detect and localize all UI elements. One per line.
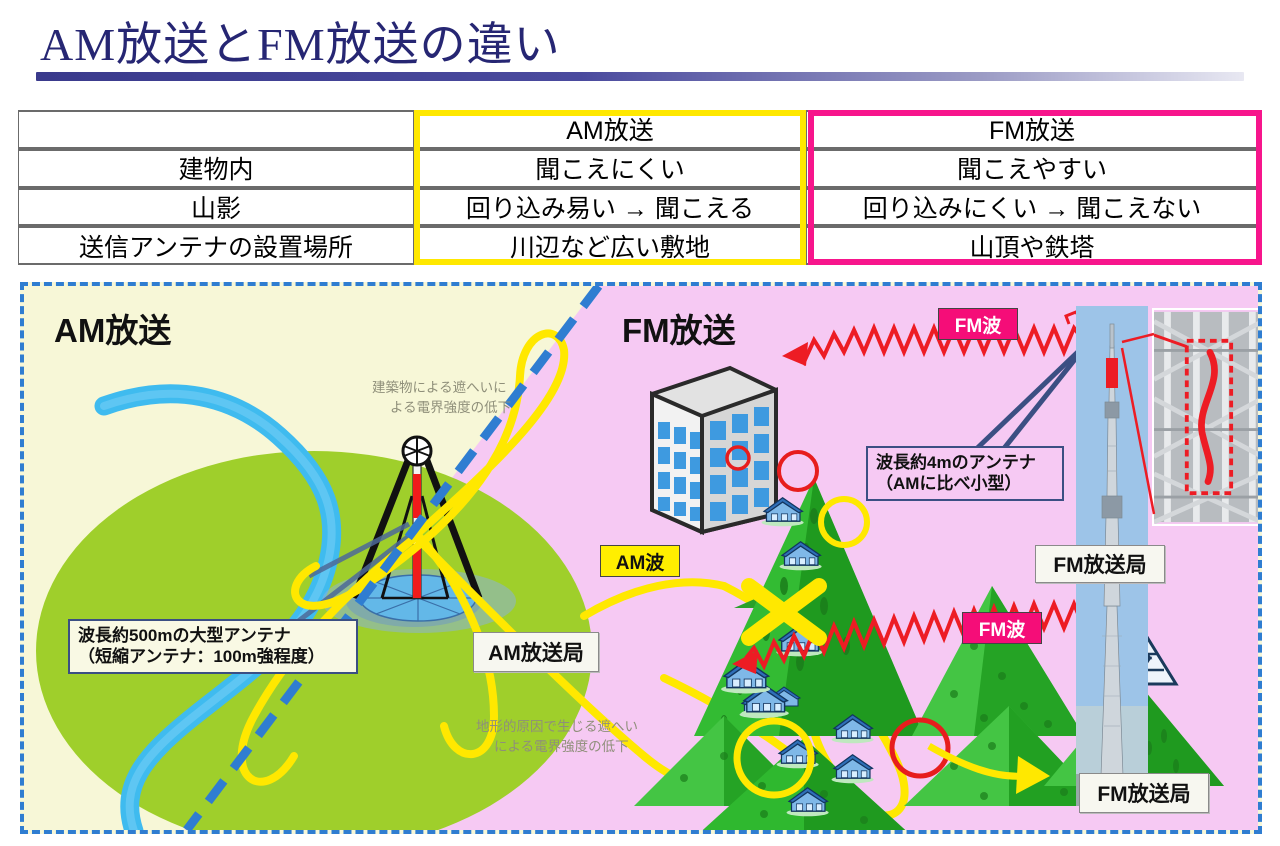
cell-fm-indoor: 聞こえやすい (806, 149, 1258, 188)
badge-fm-wave-top: FM波 (938, 308, 1018, 340)
badge-am-wave: AM波 (600, 545, 680, 577)
callout-fm-antenna: 波長約4mのアンテナ （AMに比べ小型） (866, 446, 1064, 501)
tower-lattice-photo (1152, 308, 1262, 526)
cell-am-indoor: 聞こえにくい (414, 149, 806, 188)
callout-am-antenna-line2: （短縮アンテナ：100m強程度） (78, 646, 348, 667)
cell-am-antenna-site: 川辺など広い敷地 (414, 226, 806, 265)
note-building-line1: 建築物による遮へいに (372, 380, 507, 395)
station-label-fm-bottom: FM放送局 (1079, 773, 1209, 813)
row-label-antenna-site: 送信アンテナの設置場所 (18, 226, 414, 265)
cell-am-mountain-shadow: 回り込み易い → 聞こえる (414, 188, 806, 227)
note-building-line2: よる電界強度の低下 (372, 398, 511, 418)
comparison-table: AM放送 FM放送 建物内 聞こえにくい 聞こえやすい 山影 回り込み易い → … (18, 110, 1262, 265)
fm-side-label: FM放送 (622, 304, 736, 352)
cell-fm-mountain-shadow: 回り込みにくい → 聞こえない (806, 188, 1258, 227)
cell-fm-antenna-site: 山頂や鉄塔 (806, 226, 1258, 265)
callout-am-antenna: 波長約500mの大型アンテナ （短縮アンテナ：100m強程度） (68, 619, 358, 674)
table-header-fm: FM放送 (806, 110, 1258, 149)
callout-am-antenna-line1: 波長約500mの大型アンテナ (78, 625, 348, 646)
table-row: 山影 回り込み易い → 聞こえる 回り込みにくい → 聞こえない (18, 188, 1262, 227)
note-terrain-line2: による電界強度の低下 (476, 737, 638, 757)
table-row: 送信アンテナの設置場所 川辺など広い敷地 山頂や鉄塔 (18, 226, 1262, 265)
callout-fm-antenna-line1: 波長約4mのアンテナ (876, 452, 1054, 473)
title-underline-rule (36, 72, 1244, 81)
station-label-fm-top: FM放送局 (1035, 545, 1165, 583)
badge-fm-wave-bottom: FM波 (962, 612, 1042, 644)
table-header-am: AM放送 (414, 110, 806, 149)
page-title: AM放送とFM放送の違い (40, 8, 561, 74)
station-label-am: AM放送局 (473, 632, 599, 672)
callout-fm-antenna-line2: （AMに比べ小型） (876, 473, 1054, 494)
row-label-indoor: 建物内 (18, 149, 414, 188)
note-terrain-line1: 地形的原因で生じる遮へい (476, 719, 638, 734)
table-header-blank (18, 110, 414, 149)
note-terrain-shielding: 地形的原因で生じる遮へい による電界強度の低下 (476, 717, 638, 756)
note-building-shielding: 建築物による遮へいに よる電界強度の低下 (372, 378, 511, 417)
row-label-mountain-shadow: 山影 (18, 188, 414, 227)
table-row: 建物内 聞こえにくい 聞こえやすい (18, 149, 1262, 188)
table-header-row: AM放送 FM放送 (18, 110, 1262, 149)
am-side-label: AM放送 (54, 304, 171, 352)
